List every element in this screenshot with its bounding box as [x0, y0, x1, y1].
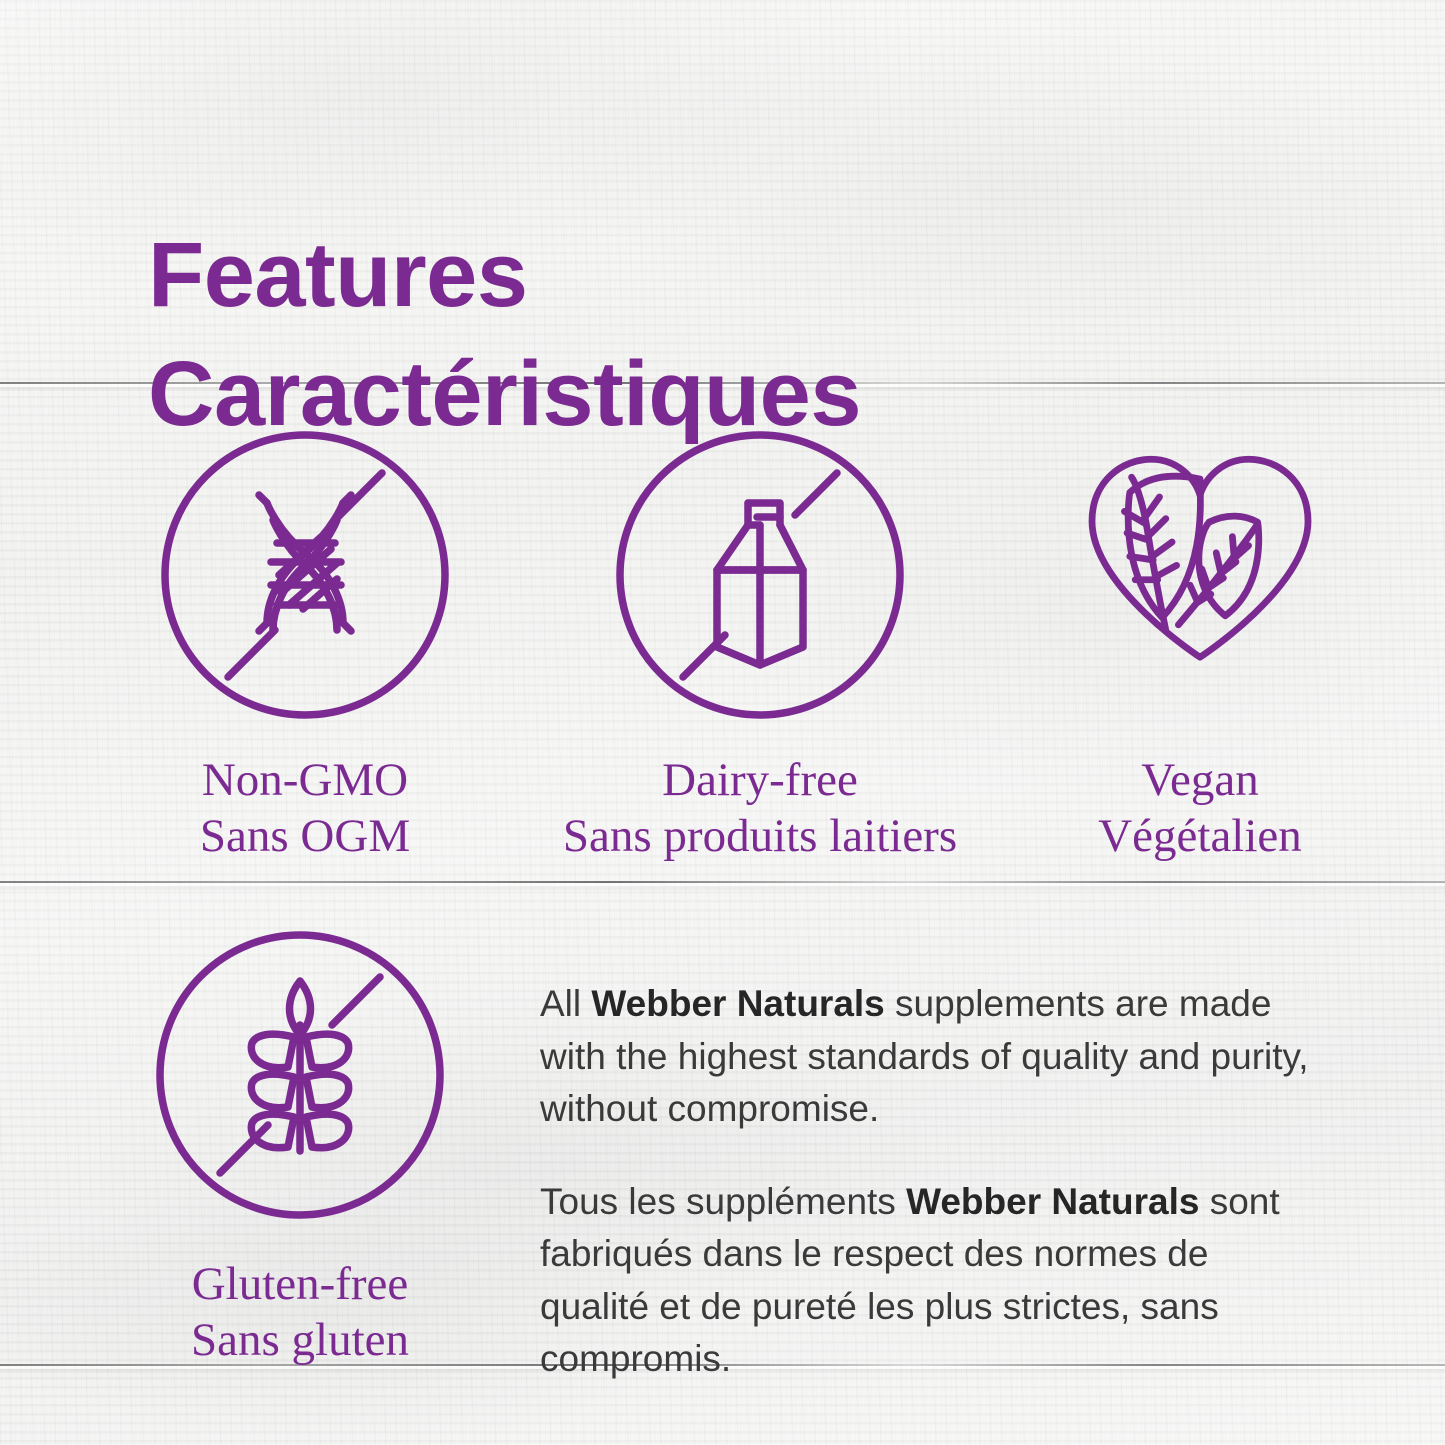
feature-label-fr: Sans produits laitiers: [525, 808, 995, 864]
brand-description: All Webber Naturals supplements are made…: [540, 978, 1315, 1386]
dna-no-symbol-icon: [90, 425, 520, 730]
desc-fr-before: Tous les suppléments: [540, 1181, 906, 1222]
brand-name-en: Webber Naturals: [591, 983, 884, 1024]
heart-leaves-icon: [1000, 425, 1400, 700]
page-title-line-en: Features: [148, 224, 528, 326]
feature-label-group: Non-GMO Sans OGM: [90, 752, 520, 865]
feature-gluten-free: Gluten-free Sans gluten: [80, 925, 520, 1369]
milk-carton-no-symbol-icon: [525, 425, 995, 730]
feature-label-en: Non-GMO: [90, 752, 520, 808]
desc-en-before: All: [540, 983, 591, 1024]
feature-dairy-free: Dairy-free Sans produits laitiers: [525, 425, 995, 865]
feature-label-en: Dairy-free: [525, 752, 995, 808]
feature-label-en: Vegan: [1000, 752, 1400, 808]
feature-label-group: Gluten-free Sans gluten: [80, 1256, 520, 1369]
feature-label-group: Dairy-free Sans produits laitiers: [525, 752, 995, 865]
plank-seam: [0, 881, 1445, 890]
wheat-no-symbol-icon: [80, 925, 520, 1230]
feature-panel: Features Caractéristiques: [0, 0, 1445, 1445]
description-en: All Webber Naturals supplements are made…: [540, 978, 1315, 1136]
description-fr: Tous les suppléments Webber Naturals son…: [540, 1176, 1315, 1386]
feature-label-fr: Végétalien: [1000, 808, 1400, 864]
feature-label-fr: Sans gluten: [80, 1312, 520, 1368]
feature-label-fr: Sans OGM: [90, 808, 520, 864]
feature-vegan: Vegan Végétalien: [1000, 425, 1400, 865]
brand-name-fr: Webber Naturals: [906, 1181, 1199, 1222]
feature-label-group: Vegan Végétalien: [1000, 752, 1400, 865]
feature-non-gmo: Non-GMO Sans OGM: [90, 425, 520, 865]
feature-label-en: Gluten-free: [80, 1256, 520, 1312]
